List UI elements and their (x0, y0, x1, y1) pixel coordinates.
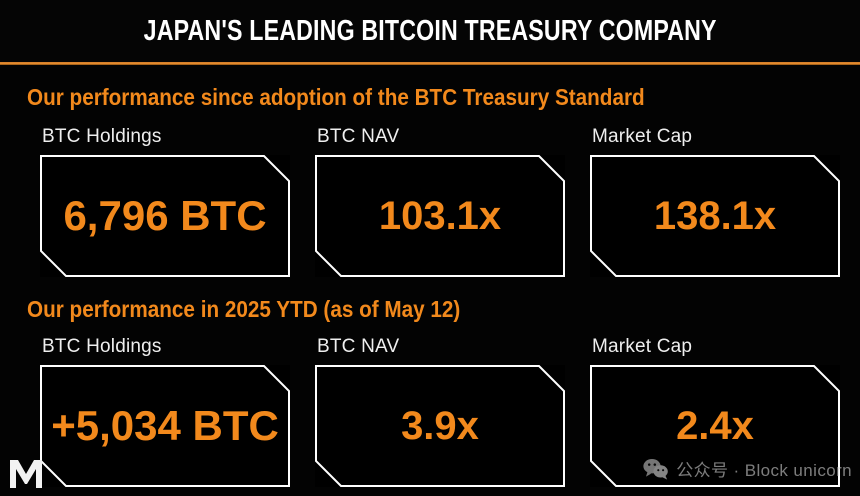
metric-label-market-cap-1: Market Cap (592, 126, 692, 148)
metric-card-btc-holdings-1: 6,796 BTC (40, 155, 290, 277)
metric-card-btc-nav-2: 3.9x (315, 365, 565, 487)
header-bar: JAPAN'S LEADING BITCOIN TREASURY COMPANY (0, 0, 860, 62)
metric-label-btc-holdings-1: BTC Holdings (42, 126, 162, 148)
metric-label-btc-nav-2: BTC NAV (317, 336, 399, 358)
metaplanet-m-logo-icon (6, 452, 46, 492)
metric-value-btc-holdings-2: +5,034 BTC (40, 365, 290, 487)
header-divider (0, 62, 860, 65)
metric-label-btc-holdings-2: BTC Holdings (42, 336, 162, 358)
metric-value-btc-nav-1: 103.1x (315, 155, 565, 277)
wechat-watermark-text: 公众号 · Block unicorn (676, 456, 852, 481)
metric-value-btc-holdings-1: 6,796 BTC (40, 155, 290, 277)
wechat-watermark: 公众号 · Block unicorn (643, 456, 852, 481)
metric-value-market-cap-1: 138.1x (590, 155, 840, 277)
section-heading-2025-ytd: Our performance in 2025 YTD (as of May 1… (27, 296, 460, 323)
metric-label-btc-nav-1: BTC NAV (317, 126, 399, 148)
metric-value-btc-nav-2: 3.9x (315, 365, 565, 487)
metric-card-market-cap-1: 138.1x (590, 155, 840, 277)
metric-card-btc-nav-1: 103.1x (315, 155, 565, 277)
slide-canvas: JAPAN'S LEADING BITCOIN TREASURY COMPANY… (0, 0, 860, 496)
metric-label-market-cap-2: Market Cap (592, 336, 692, 358)
page-title: JAPAN'S LEADING BITCOIN TREASURY COMPANY (143, 15, 716, 48)
wechat-icon (643, 458, 669, 480)
metric-card-btc-holdings-2: +5,034 BTC (40, 365, 290, 487)
section-heading-since-adoption: Our performance since adoption of the BT… (27, 84, 645, 111)
